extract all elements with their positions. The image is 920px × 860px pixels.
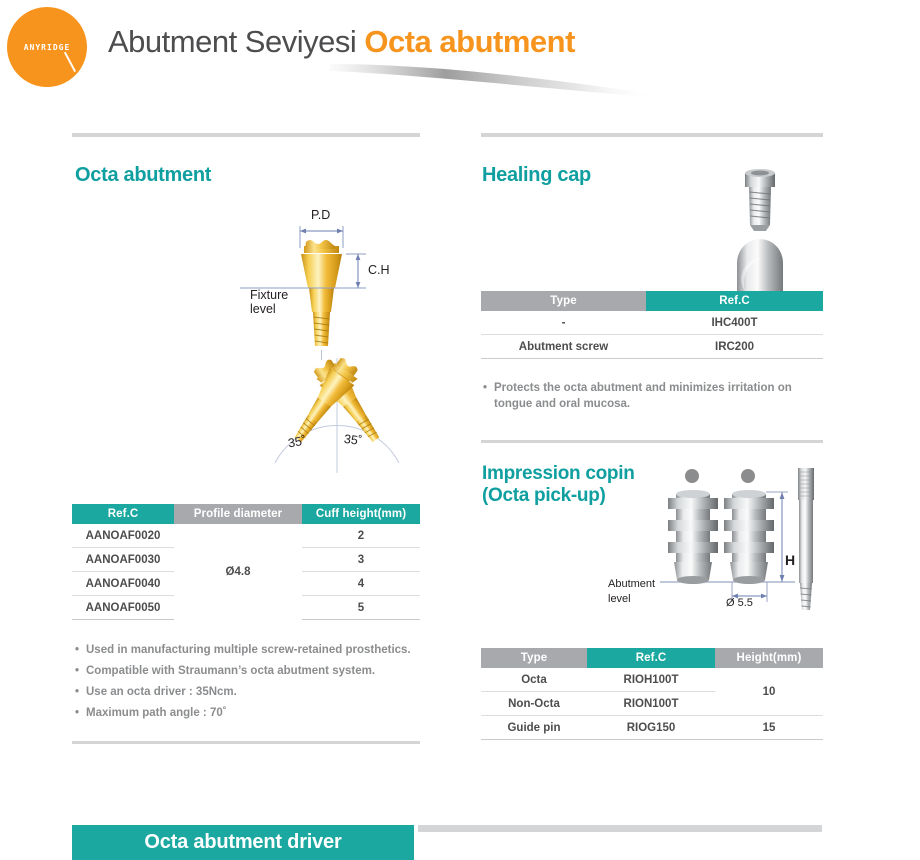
cell-ref-c: AANOAF0020 <box>72 524 174 548</box>
cell-ref-c: AANOAF0040 <box>72 572 174 596</box>
table-header-row: Type Ref.C <box>481 291 823 311</box>
section-title-impression-line1: Impression copin <box>482 463 635 485</box>
col-header-type: Type <box>481 291 646 311</box>
octa-diagram-label-ch: C.H <box>368 263 390 277</box>
note-item: Protects the octa abutment and minimizes… <box>483 380 819 412</box>
octa-abutment-driver-label: Octa abutment driver <box>144 831 341 854</box>
cell-ref-c: RIOG150 <box>587 716 715 740</box>
note-item: Use an octa driver : 35Ncm. <box>75 682 411 703</box>
page-title-plain: Abutment Seviyesi <box>108 24 364 59</box>
octa-abutment-angled-diagram <box>245 358 430 473</box>
cell-cuff-height: 5 <box>302 596 420 620</box>
table-header-row: Type Ref.C Height(mm) <box>481 648 823 668</box>
col-header-profile-diameter: Profile diameter <box>174 504 302 524</box>
section-title-impression-line2: (Octa pick-up) <box>482 485 635 507</box>
table-row: Guide pin RIOG150 15 <box>481 716 823 740</box>
octa-diagram-label-pd: P.D <box>311 208 330 222</box>
divider-footer <box>418 825 822 832</box>
octa-diagram-label-fixture-level-2: level <box>250 302 276 316</box>
table-healing-cap: Type Ref.C - IHC400T Abutment screw IRC2… <box>481 291 823 359</box>
cell-profile-diameter: Ø4.8 <box>174 524 302 620</box>
note-item: Compatible with Straumann’s octa abutmen… <box>75 661 411 682</box>
table-row: - IHC400T <box>481 311 823 335</box>
table-row: Octa RIOH100T 10 <box>481 668 823 692</box>
header-swoosh-decoration <box>330 62 670 98</box>
notes-octa-abutment: Used in manufacturing multiple screw-ret… <box>75 640 411 724</box>
impression-label-h: H <box>785 552 795 568</box>
cell-ref-c: RION100T <box>587 692 715 716</box>
cell-cuff-height: 4 <box>302 572 420 596</box>
divider-left-top <box>72 133 420 137</box>
page-title-accent: Octa abutment <box>364 24 575 59</box>
note-item: Used in manufacturing multiple screw-ret… <box>75 640 411 661</box>
cell-cuff-height: 2 <box>302 524 420 548</box>
cell-ref-c: RIOH100T <box>587 668 715 692</box>
brand-logo-label: ANYRIDGE <box>24 43 71 52</box>
cell-type: Abutment screw <box>481 335 646 359</box>
table-header-row: Ref.C Profile diameter Cuff height(mm) <box>72 504 420 524</box>
cell-type: - <box>481 311 646 335</box>
divider-right-top <box>481 133 823 137</box>
impression-label-diameter: Ø 5.5 <box>726 597 753 609</box>
page-title: Abutment Seviyesi Octa abutment <box>108 24 575 60</box>
cell-height: 15 <box>715 716 823 740</box>
col-header-ref-c: Ref.C <box>587 648 715 668</box>
brand-logo-slash <box>63 52 75 72</box>
octa-abutment-driver-bar: Octa abutment driver <box>72 825 414 860</box>
cell-ref-c: AANOAF0030 <box>72 548 174 572</box>
table-row: Abutment screw IRC200 <box>481 335 823 359</box>
note-item: Maximum path angle : 70˚ <box>75 703 411 724</box>
cell-ref-c: IRC200 <box>646 335 823 359</box>
table-impression-coping: Type Ref.C Height(mm) Octa RIOH100T 10 N… <box>481 648 823 740</box>
cell-type: Non-Octa <box>481 692 587 716</box>
section-title-impression-coping: Impression copin (Octa pick-up) <box>482 463 635 507</box>
notes-healing-cap: Protects the octa abutment and minimizes… <box>483 380 819 412</box>
cell-cuff-height: 3 <box>302 548 420 572</box>
healing-cap-illustration <box>715 165 815 295</box>
col-header-cuff-height: Cuff height(mm) <box>302 504 420 524</box>
col-header-type: Type <box>481 648 587 668</box>
section-title-healing-cap: Healing cap <box>482 164 591 187</box>
impression-label-abutment-level-1: Abutment <box>608 578 655 590</box>
col-header-height: Height(mm) <box>715 648 823 668</box>
octa-abutment-diagram <box>240 200 430 360</box>
cell-ref-c: AANOAF0050 <box>72 596 174 620</box>
section-title-octa-abutment: Octa abutment <box>75 164 211 187</box>
impression-coping-diagram <box>660 462 825 617</box>
cell-type: Guide pin <box>481 716 587 740</box>
table-octa-abutment: Ref.C Profile diameter Cuff height(mm) A… <box>72 504 420 620</box>
divider-right-middle <box>481 440 823 443</box>
col-header-ref-c: Ref.C <box>72 504 174 524</box>
cell-type: Octa <box>481 668 587 692</box>
col-header-ref-c: Ref.C <box>646 291 823 311</box>
cell-ref-c: IHC400T <box>646 311 823 335</box>
table-row: AANOAF0020 Ø4.8 2 <box>72 524 420 548</box>
angle-label-right: 35˚ <box>343 432 363 448</box>
octa-diagram-label-fixture-level-1: Fixture <box>250 288 288 302</box>
impression-label-abutment-level-2: level <box>608 593 631 605</box>
cell-height: 10 <box>715 668 823 716</box>
divider-left-bottom <box>72 741 420 744</box>
brand-logo: ANYRIDGE <box>7 7 87 87</box>
